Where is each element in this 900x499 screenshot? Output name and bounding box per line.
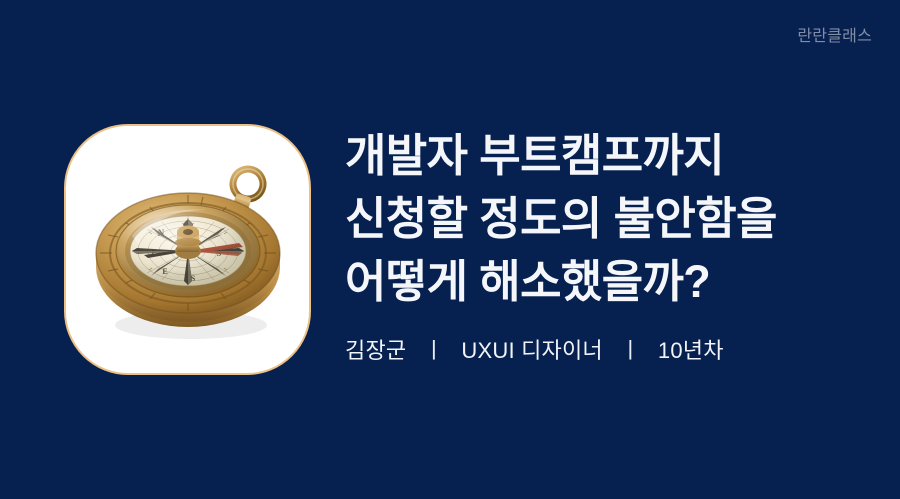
speaker-name: 김장군 <box>345 338 406 363</box>
thumbnail-canvas: 란란클래스 <box>0 0 900 499</box>
byline-separator-1: ㅣ <box>413 336 455 366</box>
thumbnail-image-card: W N E S E S <box>64 124 311 375</box>
headline-line-2: 신청할 정도의 불안함을 <box>345 187 865 250</box>
compass-photo: W N E S E S <box>87 150 292 355</box>
speaker-experience: 10년차 <box>658 338 724 363</box>
text-column: 개발자 부트캠프까지 신청할 정도의 불안함을 어떻게 해소했을까? 김장군 ㅣ… <box>345 124 865 366</box>
byline-separator-2: ㅣ <box>609 336 651 366</box>
brand-watermark: 란란클래스 <box>797 26 872 47</box>
speaker-role: UXUI 디자이너 <box>461 338 602 363</box>
headline-line-3: 어떻게 해소했을까? <box>345 250 865 313</box>
page-title: 개발자 부트캠프까지 신청할 정도의 불안함을 어떻게 해소했을까? <box>345 124 865 313</box>
speaker-byline: 김장군 ㅣ UXUI 디자이너 ㅣ 10년차 <box>345 336 865 366</box>
headline-line-1: 개발자 부트캠프까지 <box>345 124 865 187</box>
